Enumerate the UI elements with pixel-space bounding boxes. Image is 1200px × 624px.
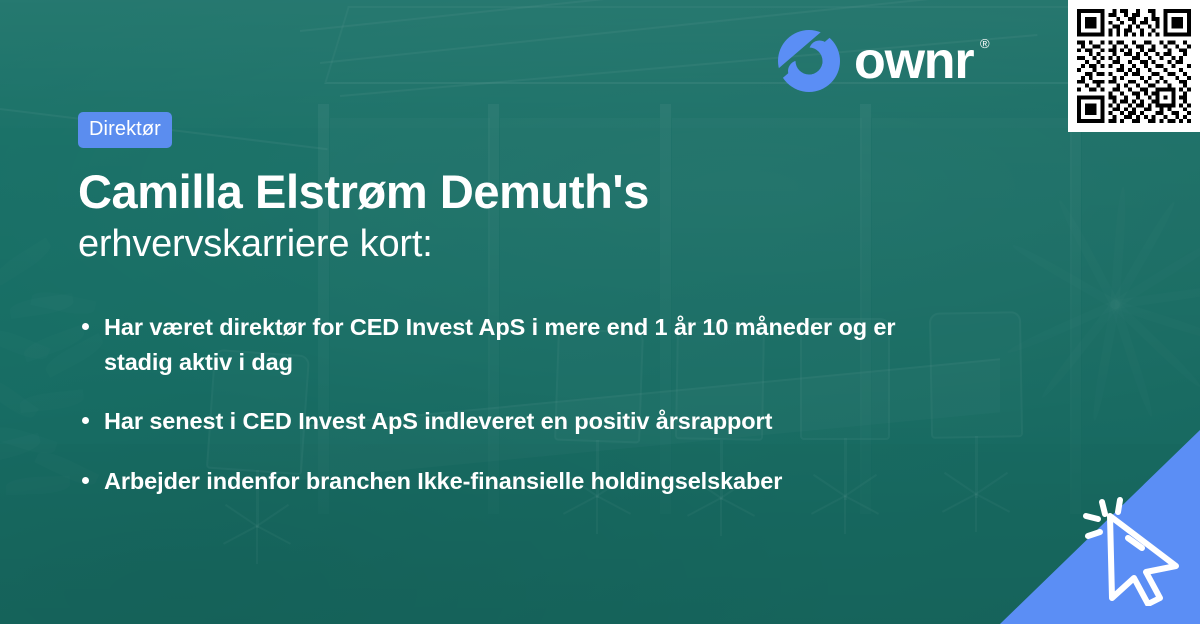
role-badge: Direktør [78, 112, 172, 148]
list-item-text: Arbejder indenfor branchen Ikke-finansie… [104, 468, 782, 494]
qr-code[interactable] [1068, 0, 1200, 132]
headline-block: Direktør Camilla Elstrøm Demuth's erhver… [78, 112, 978, 267]
career-facts-list: Har været direktør for CED Invest ApS i … [78, 310, 958, 498]
registered-mark: ® [980, 37, 988, 50]
ownr-logo[interactable]: ownr ® [778, 30, 973, 92]
page-title: Camilla Elstrøm Demuth's [78, 167, 978, 216]
list-item-text: Har været direktør for CED Invest ApS i … [104, 314, 895, 375]
list-item: Har været direktør for CED Invest ApS i … [78, 310, 958, 379]
ownr-circle-logo-icon [778, 30, 840, 92]
bullet-dot-icon [82, 323, 89, 330]
ownr-wordmark: ownr ® [854, 35, 973, 87]
list-item: Har senest i CED Invest ApS indleveret e… [78, 404, 958, 439]
click-cursor-icon [1080, 494, 1190, 606]
list-item-text: Har senest i CED Invest ApS indleveret e… [104, 408, 772, 434]
bullet-dot-icon [82, 417, 89, 424]
career-card: ownr ® Direktør Camilla Elstrøm Demuth's… [0, 0, 1200, 624]
ownr-wordmark-text: ownr [854, 32, 973, 90]
list-item: Arbejder indenfor branchen Ikke-finansie… [78, 464, 958, 499]
page-subtitle: erhvervskarriere kort: [78, 223, 978, 267]
bullet-dot-icon [82, 477, 89, 484]
